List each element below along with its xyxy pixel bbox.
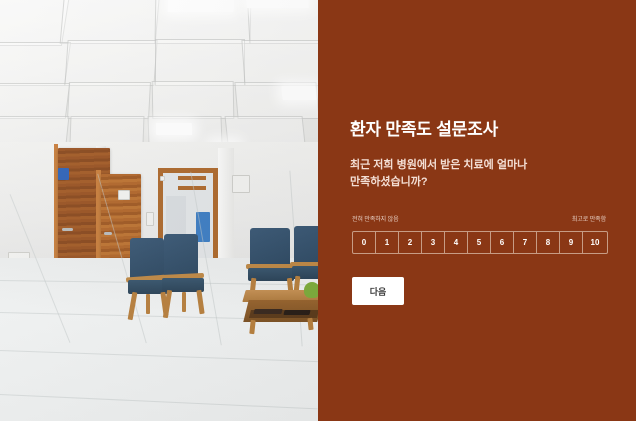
survey-question-line2: 만족하셨습니까? [350, 174, 580, 191]
rating-option-6[interactable]: 6 [491, 232, 514, 253]
wall-dispenser [146, 212, 154, 226]
door-plate [118, 190, 130, 200]
rating-option-2[interactable]: 2 [399, 232, 422, 253]
ceiling-light [156, 123, 192, 135]
survey-question-line1: 최근 저희 병원에서 받은 치료에 얼마나 [350, 157, 580, 174]
rating-option-3[interactable]: 3 [422, 232, 445, 253]
scale-endpoint-labels: 전혀 만족하지 않음 최고로 만족함 [352, 214, 606, 223]
restroom-sign-icon [58, 168, 69, 180]
page-title: 환자 만족도 설문조사 [350, 115, 498, 140]
rating-option-1[interactable]: 1 [376, 232, 399, 253]
scale-high-label: 최고로 만족함 [572, 214, 606, 223]
rating-scale[interactable]: 012345678910 [352, 231, 608, 254]
survey-question: 최근 저희 병원에서 받은 치료에 얼마나 만족하셨습니까? [350, 157, 580, 191]
survey-panel: 환자 만족도 설문조사 최근 저희 병원에서 받은 치료에 얼마나 만족하셨습니… [318, 0, 636, 421]
scale-low-label: 전혀 만족하지 않음 [352, 214, 399, 223]
rating-option-9[interactable]: 9 [560, 232, 583, 253]
rating-option-5[interactable]: 5 [468, 232, 491, 253]
survey-screen: 환자 만족도 설문조사 최근 저희 병원에서 받은 치료에 얼마나 만족하셨습니… [0, 0, 636, 421]
ceiling-light [168, 0, 235, 12]
wall-switch [160, 176, 165, 181]
hospital-waiting-room-photo [0, 0, 318, 421]
rating-option-4[interactable]: 4 [445, 232, 468, 253]
potted-plant [304, 282, 318, 298]
ceiling-light [245, 0, 309, 8]
rating-option-8[interactable]: 8 [537, 232, 560, 253]
rating-option-0[interactable]: 0 [353, 232, 376, 253]
next-button[interactable]: 다음 [352, 277, 404, 305]
rating-option-7[interactable]: 7 [514, 232, 537, 253]
wall-notice-sign [232, 175, 250, 193]
waiting-chair [160, 234, 212, 308]
rating-option-10[interactable]: 10 [583, 232, 607, 253]
ceiling [0, 0, 318, 148]
ceiling-light [281, 86, 316, 100]
